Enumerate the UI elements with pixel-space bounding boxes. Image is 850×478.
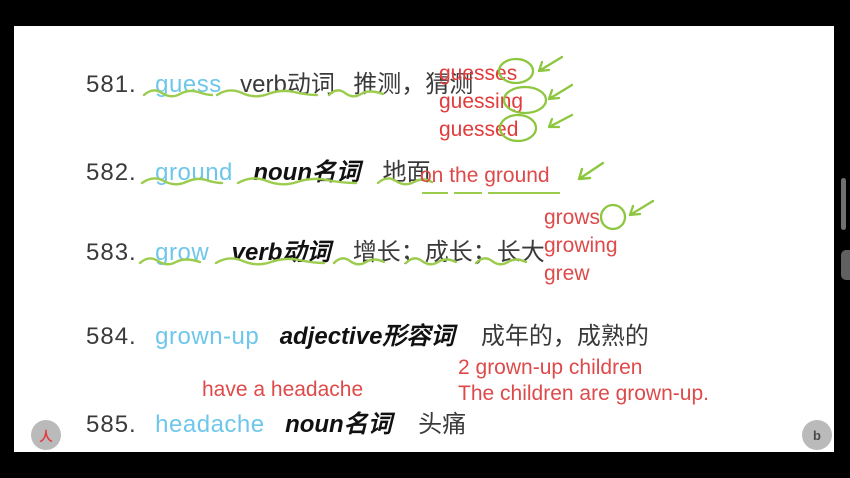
screen-viewport: 581. guess verb动词 推测，猜测 guesses guessing… xyxy=(0,0,850,478)
entry-pos-cn: 动词 xyxy=(282,239,330,266)
entry-pos-cn: 名词 xyxy=(312,159,360,186)
side-drawer-handle[interactable] xyxy=(841,250,850,280)
annotation-guessing: guessing xyxy=(439,90,523,114)
entry-meaning: 成年的，成熟的 xyxy=(481,323,649,350)
vocab-entry-585: 585. headache noun名词 头痛 xyxy=(86,404,466,439)
entry-pos-cn: 形容词 xyxy=(382,323,454,350)
vocab-entry-583: 583. grow verb动词 增长；成长；长大 xyxy=(86,232,545,267)
vertical-scrollbar-thumb[interactable] xyxy=(841,178,846,230)
annotation-have-a-headache: have a headache xyxy=(202,378,363,402)
entry-pos: verb xyxy=(232,239,283,266)
entry-pos: verb xyxy=(240,71,287,98)
vocab-entry-584: 584. grown-up adjective形容词 成年的，成熟的 xyxy=(86,316,649,351)
arrow-icon xyxy=(531,54,565,80)
underline-mark xyxy=(454,192,482,194)
circle-highlight-icon xyxy=(597,202,631,232)
entry-pos: noun xyxy=(253,159,312,186)
entry-pos: noun xyxy=(285,411,344,438)
entry-number: 584. xyxy=(86,323,137,350)
annotation-guesses: guesses xyxy=(439,62,517,86)
annotation-growing: growing xyxy=(544,234,618,258)
entry-number: 583. xyxy=(86,239,137,266)
annotation-grown-up-children: 2 grown-up children xyxy=(458,356,642,380)
arrow-icon xyxy=(541,112,575,136)
vertical-scrollbar-track[interactable] xyxy=(843,26,848,452)
watermark-avatar-right: b xyxy=(802,420,832,450)
entry-pos-cn: 动词 xyxy=(287,71,335,98)
lesson-page: 581. guess verb动词 推测，猜测 guesses guessing… xyxy=(14,26,834,452)
entry-meaning: 头痛 xyxy=(418,411,466,438)
entry-meaning: 增长；成长；长大 xyxy=(353,239,545,266)
entry-headword: grown-up xyxy=(155,323,259,350)
entry-headword: grow xyxy=(155,239,209,266)
annotation-grew: grew xyxy=(544,262,590,286)
annotation-guessed: guessed xyxy=(439,118,518,142)
entry-number: 581. xyxy=(86,71,137,98)
entry-headword: headache xyxy=(155,411,264,438)
entry-headword: guess xyxy=(155,71,222,98)
vocab-entry-581: 581. guess verb动词 推测，猜测 xyxy=(86,64,473,99)
annotation-on-the-ground: on the ground xyxy=(420,164,550,188)
arrow-icon xyxy=(541,82,575,108)
annotation-children-are-grown-up: The children are grown-up. xyxy=(458,382,709,406)
entry-number: 582. xyxy=(86,159,137,186)
underline-mark xyxy=(422,192,448,194)
entry-pos-cn: 名词 xyxy=(344,411,392,438)
arrow-icon xyxy=(570,160,606,188)
underline-mark xyxy=(488,192,560,194)
watermark-avatar-left: 人 xyxy=(31,420,61,450)
entry-pos: adjective xyxy=(280,323,383,350)
arrow-icon xyxy=(622,198,656,224)
vocab-entry-582: 582. ground noun名词 地面 xyxy=(86,152,430,187)
entry-headword: ground xyxy=(155,159,233,186)
entry-number: 585. xyxy=(86,411,137,438)
annotation-grows: grows xyxy=(544,206,600,230)
